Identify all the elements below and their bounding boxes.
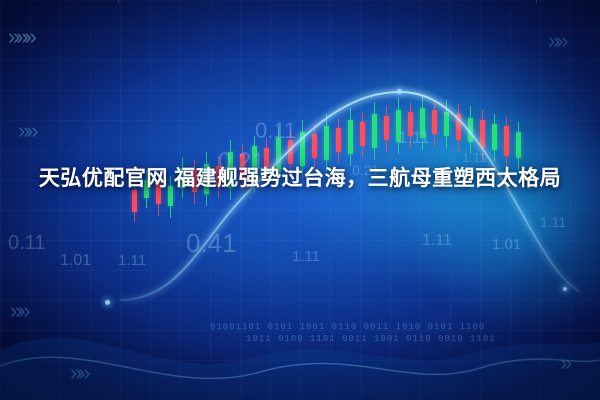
news-thumbnail-image: 0.110.211.110.410.111.011.111.111.111.01… xyxy=(0,0,600,400)
vignette-overlay xyxy=(0,0,600,400)
headline-text: 天弘优配官网 福建舰强势过台海，三航母重塑西太格局 xyxy=(0,160,600,198)
